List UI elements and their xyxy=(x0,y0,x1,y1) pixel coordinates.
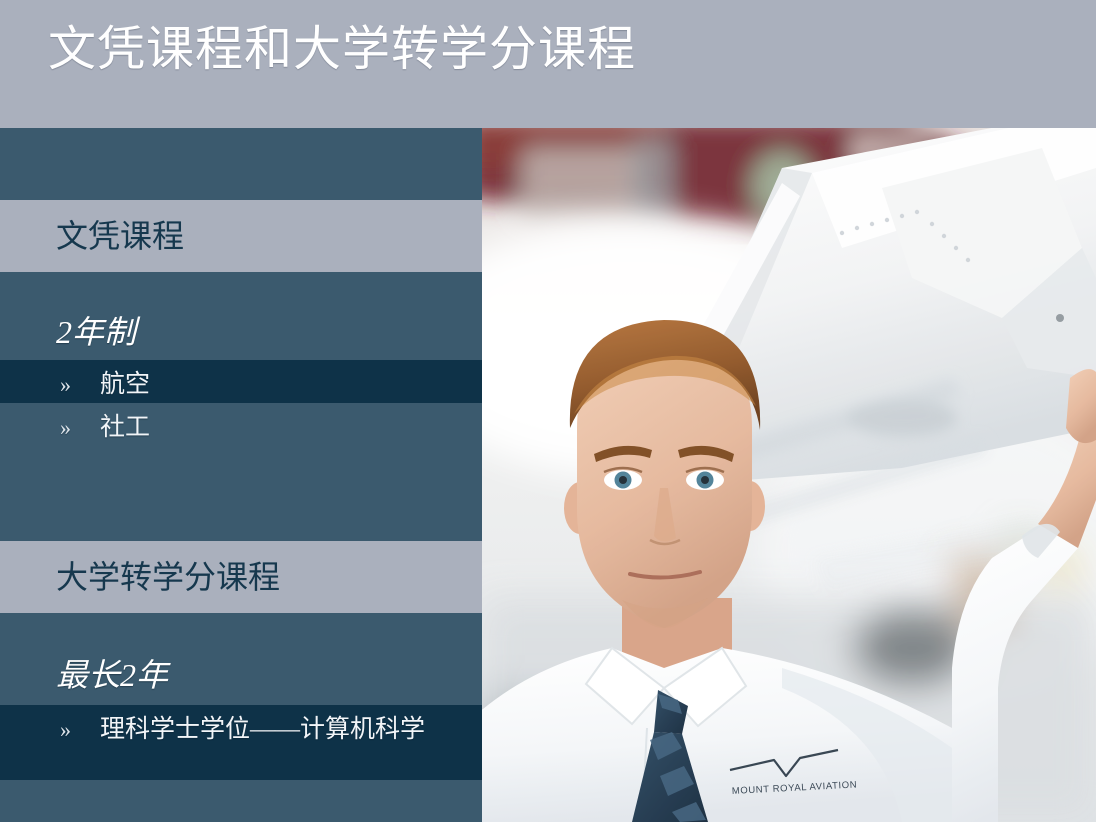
chevron-double-right-icon: » xyxy=(60,374,100,396)
list-item[interactable]: » 社工 xyxy=(60,415,150,440)
chevron-double-right-icon: » xyxy=(60,719,100,741)
content-panel: 文凭课程 2年制 » 航空 » 社工 大学转学分课程 最长2年 xyxy=(0,128,482,822)
section-title-2: 大学转学分课程 xyxy=(56,561,280,593)
section-header-band-1: 文凭课程 xyxy=(0,200,482,272)
section-spacer-2 xyxy=(0,780,482,822)
section-duration-band-1: 2年制 xyxy=(0,272,482,360)
hero-photo: MOUNT ROYAL AVIATION xyxy=(482,128,1096,822)
section-duration-band-2: 最长2年 xyxy=(0,613,482,705)
bullet-row-bsc-computer-science[interactable]: » 理科学士学位——计算机科学 xyxy=(0,705,482,780)
section-header-band-2: 大学转学分课程 xyxy=(0,541,482,613)
title-banner: 文凭课程和大学转学分课程 xyxy=(0,0,1096,128)
section-title-1: 文凭课程 xyxy=(56,220,184,252)
list-item-label: 社工 xyxy=(100,415,150,440)
page-title: 文凭课程和大学转学分课程 xyxy=(48,26,636,74)
list-item-label: 航空 xyxy=(100,372,150,397)
list-item-label: 理科学士学位——计算机科学 xyxy=(100,717,425,742)
bullet-row-aviation[interactable]: » 航空 xyxy=(0,360,482,403)
section-duration-2: 最长2年 xyxy=(56,659,168,691)
list-item[interactable]: » 理科学士学位——计算机科学 xyxy=(60,717,425,742)
chevron-double-right-icon: » xyxy=(60,417,100,439)
photo-illustration: MOUNT ROYAL AVIATION xyxy=(482,128,1096,822)
bullet-row-social-work[interactable]: » 社工 xyxy=(0,403,482,451)
slide: 文凭课程和大学转学分课程 文凭课程 2年制 » 航空 » 社工 xyxy=(0,0,1096,822)
section-spacer-1 xyxy=(0,451,482,541)
list-item[interactable]: » 航空 xyxy=(60,372,150,397)
section-duration-1: 2年制 xyxy=(56,316,136,348)
